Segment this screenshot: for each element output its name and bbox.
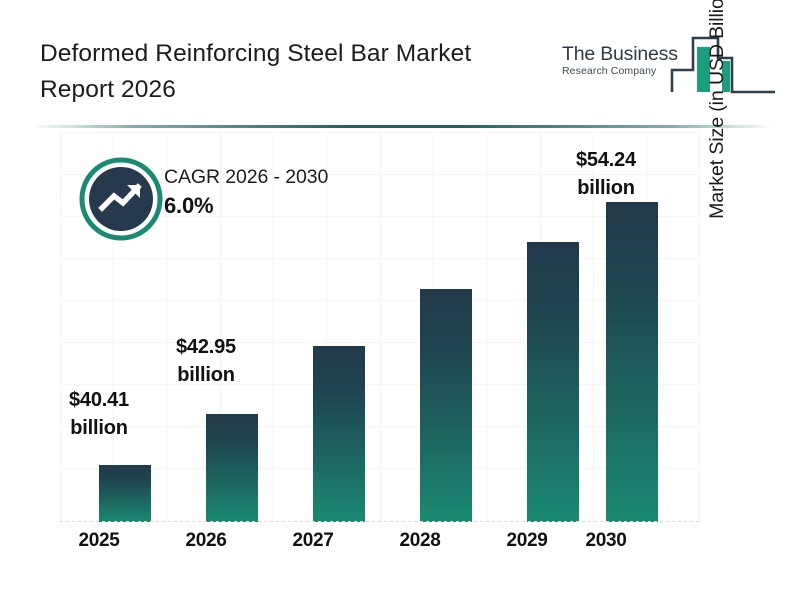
company-logo: The Business Research Company xyxy=(562,30,777,105)
x-tick-2026: 2026 xyxy=(158,530,254,552)
value-label-2025-unit: billion xyxy=(51,414,147,442)
logo-line-1: The Business xyxy=(562,44,686,65)
bar-2029[interactable] xyxy=(527,242,579,522)
logo-wordmark: The Business Research Company xyxy=(562,44,686,78)
x-tick-2027: 2027 xyxy=(265,530,361,552)
value-label-2026-unit: billion xyxy=(158,361,254,389)
gridline-vertical xyxy=(60,132,61,522)
bar-2025[interactable] xyxy=(99,465,151,522)
value-label-2025-amount: $40.41 xyxy=(51,386,147,414)
page-title: Deformed Reinforcing Steel Bar Market Re… xyxy=(40,36,550,108)
cagr-value-label: 6.0% xyxy=(164,190,394,222)
value-label-2030: $54.24 billion xyxy=(558,146,654,202)
x-tick-2025: 2025 xyxy=(51,530,147,552)
value-label-2026: $42.95 billion xyxy=(158,333,254,389)
bar-2026[interactable] xyxy=(206,414,258,522)
cagr-text-block: CAGR 2026 - 2030 6.0% xyxy=(164,164,394,222)
header-divider xyxy=(32,125,774,128)
value-label-2030-unit: billion xyxy=(558,174,654,202)
header: Deformed Reinforcing Steel Bar Market Re… xyxy=(0,0,800,120)
cagr-period-label: CAGR 2026 - 2030 xyxy=(164,164,394,190)
bar-2028[interactable] xyxy=(420,289,472,522)
value-label-2025: $40.41 billion xyxy=(51,386,147,442)
chart-canvas: Deformed Reinforcing Steel Bar Market Re… xyxy=(0,0,800,600)
y-axis-title: Market Size (in USD Billion) xyxy=(706,0,736,245)
bar-2030[interactable] xyxy=(606,202,658,522)
gridline-vertical xyxy=(486,132,487,522)
trend-up-arrow-icon xyxy=(78,156,164,242)
x-tick-2030: 2030 xyxy=(558,530,654,552)
axis-baseline xyxy=(60,521,700,522)
value-label-2026-amount: $42.95 xyxy=(158,333,254,361)
gridline-vertical xyxy=(699,132,700,522)
logo-line-2: Research Company xyxy=(562,65,686,78)
x-tick-2028: 2028 xyxy=(372,530,468,552)
value-label-2030-amount: $54.24 xyxy=(558,146,654,174)
cagr-badge: CAGR 2026 - 2030 6.0% xyxy=(78,156,398,246)
bar-2027[interactable] xyxy=(313,346,365,522)
